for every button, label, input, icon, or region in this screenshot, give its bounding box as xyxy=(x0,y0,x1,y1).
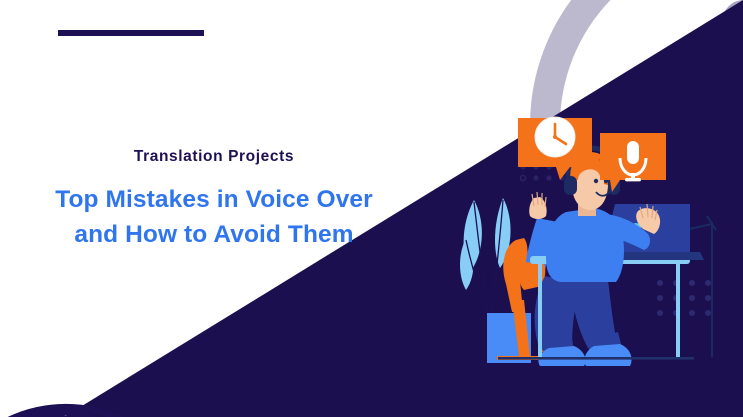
page-title: Top Mistakes in Voice Over and How to Av… xyxy=(18,183,410,253)
text-block: Translation Projects Top Mistakes in Voi… xyxy=(18,148,410,253)
eyebrow-label: Translation Projects xyxy=(18,148,410,165)
top-decorative-rule xyxy=(58,30,204,36)
dot-grid-bottom-icon xyxy=(657,280,711,316)
clock-icon xyxy=(535,117,575,157)
banner-root: Translation Projects Top Mistakes in Voi… xyxy=(0,0,743,417)
